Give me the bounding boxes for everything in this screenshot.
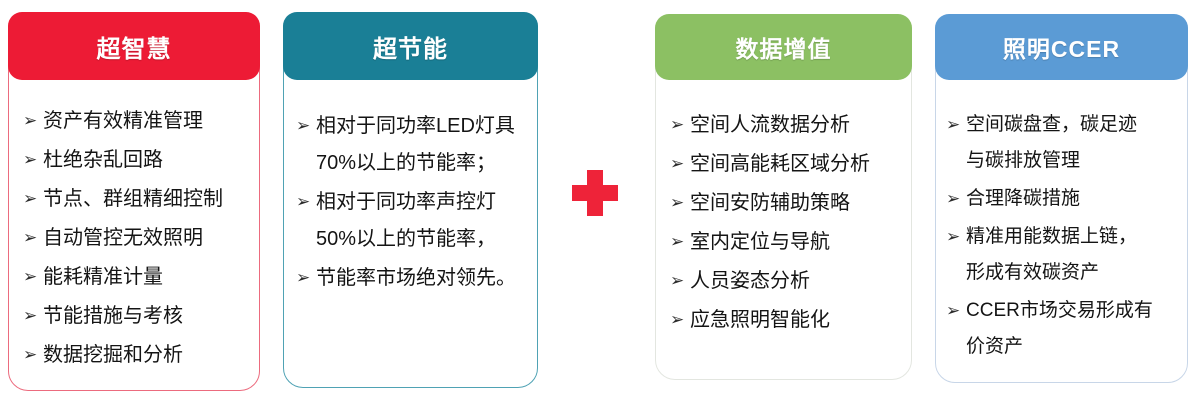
card-title: 超节能 bbox=[373, 29, 448, 64]
list-item-label: CCER市场交易形成有 价资产 bbox=[966, 293, 1183, 365]
list-item: ➢ 人员姿态分析 bbox=[670, 263, 905, 300]
list-item-label: 节能率市场绝对领先。 bbox=[316, 260, 529, 297]
card-title: 照明CCER bbox=[1003, 30, 1120, 64]
card-title: 超智慧 bbox=[97, 29, 172, 64]
list-item-label: 节能措施与考核 bbox=[43, 298, 249, 335]
card-header-super-energy-saving: 超节能 bbox=[283, 12, 538, 80]
list-item: ➢ 节能措施与考核 bbox=[23, 298, 249, 335]
list-item: ➢ 相对于同功率声控灯 50%以上的节能率， bbox=[296, 184, 529, 258]
card-body-data-value-add: ➢ 空间人流数据分析 ➢ 空间高能耗区域分析 ➢ 空间安防辅助策略 ➢ 室内定位… bbox=[656, 107, 911, 341]
arrow-bullet-icon: ➢ bbox=[670, 107, 690, 144]
list-item-label: 人员姿态分析 bbox=[690, 263, 905, 300]
list-item: ➢ 合理降碳措施 bbox=[946, 181, 1183, 217]
arrow-bullet-icon: ➢ bbox=[670, 224, 690, 261]
list-item-label: 空间安防辅助策略 bbox=[690, 185, 905, 222]
card-header-super-smart: 超智慧 bbox=[8, 12, 260, 80]
list-item: ➢ CCER市场交易形成有 价资产 bbox=[946, 293, 1183, 365]
arrow-bullet-icon: ➢ bbox=[23, 181, 43, 218]
list-item: ➢ 自动管控无效照明 bbox=[23, 220, 249, 257]
list-item: ➢ 杜绝杂乱回路 bbox=[23, 142, 249, 179]
card-super-smart[interactable]: 超智慧 ➢ 资产有效精准管理 ➢ 杜绝杂乱回路 ➢ 节点、群组精细控制 ➢ 自动 bbox=[8, 12, 260, 391]
list-item: ➢ 空间碳盘查，碳足迹 与碳排放管理 bbox=[946, 107, 1183, 179]
arrow-bullet-icon: ➢ bbox=[946, 181, 966, 217]
arrow-bullet-icon: ➢ bbox=[946, 293, 966, 329]
card-header-data-value-add: 数据增值 bbox=[655, 14, 912, 80]
card-data-value-add[interactable]: 数据增值 ➢ 空间人流数据分析 ➢ 空间高能耗区域分析 ➢ 空间安防辅助策略 ➢ bbox=[655, 14, 912, 380]
arrow-bullet-icon: ➢ bbox=[296, 108, 316, 145]
list-item: ➢ 空间高能耗区域分析 bbox=[670, 146, 905, 183]
card-body-super-energy-saving: ➢ 相对于同功率LED灯具 70%以上的节能率； ➢ 相对于同功率声控灯 50%… bbox=[284, 108, 537, 299]
list-item-label: 数据挖掘和分析 bbox=[43, 337, 249, 374]
feature-list-super-smart: ➢ 资产有效精准管理 ➢ 杜绝杂乱回路 ➢ 节点、群组精细控制 ➢ 自动管控无效… bbox=[23, 103, 249, 374]
arrow-bullet-icon: ➢ bbox=[296, 260, 316, 297]
list-item-label: 精准用能数据上链， 形成有效碳资产 bbox=[966, 219, 1183, 291]
list-item: ➢ 数据挖掘和分析 bbox=[23, 337, 249, 374]
list-item: ➢ 节点、群组精细控制 bbox=[23, 181, 249, 218]
infographic-canvas: 超智慧 ➢ 资产有效精准管理 ➢ 杜绝杂乱回路 ➢ 节点、群组精细控制 ➢ 自动 bbox=[0, 0, 1200, 407]
list-item-label: 相对于同功率LED灯具 70%以上的节能率； bbox=[316, 108, 529, 182]
plus-icon-vertical-bar bbox=[587, 170, 603, 216]
list-item-label: 能耗精准计量 bbox=[43, 259, 249, 296]
list-item-label: 资产有效精准管理 bbox=[43, 103, 249, 140]
list-item: ➢ 资产有效精准管理 bbox=[23, 103, 249, 140]
list-item: ➢ 相对于同功率LED灯具 70%以上的节能率； bbox=[296, 108, 529, 182]
arrow-bullet-icon: ➢ bbox=[23, 298, 43, 335]
arrow-bullet-icon: ➢ bbox=[670, 263, 690, 300]
list-item-label: 空间碳盘查，碳足迹 与碳排放管理 bbox=[966, 107, 1183, 179]
arrow-bullet-icon: ➢ bbox=[946, 107, 966, 143]
card-body-lighting-ccer: ➢ 空间碳盘查，碳足迹 与碳排放管理 ➢ 合理降碳措施 ➢ 精准用能数据上链， … bbox=[936, 107, 1187, 367]
list-item: ➢ 室内定位与导航 bbox=[670, 224, 905, 261]
list-item-label: 自动管控无效照明 bbox=[43, 220, 249, 257]
card-lighting-ccer[interactable]: 照明CCER ➢ 空间碳盘查，碳足迹 与碳排放管理 ➢ 合理降碳措施 ➢ 精准用… bbox=[935, 14, 1188, 383]
arrow-bullet-icon: ➢ bbox=[23, 103, 43, 140]
list-item: ➢ 空间人流数据分析 bbox=[670, 107, 905, 144]
arrow-bullet-icon: ➢ bbox=[23, 142, 43, 179]
feature-list-data-value-add: ➢ 空间人流数据分析 ➢ 空间高能耗区域分析 ➢ 空间安防辅助策略 ➢ 室内定位… bbox=[670, 107, 905, 339]
arrow-bullet-icon: ➢ bbox=[946, 219, 966, 255]
list-item: ➢ 空间安防辅助策略 bbox=[670, 185, 905, 222]
feature-list-lighting-ccer: ➢ 空间碳盘查，碳足迹 与碳排放管理 ➢ 合理降碳措施 ➢ 精准用能数据上链， … bbox=[946, 107, 1183, 365]
list-item-label: 室内定位与导航 bbox=[690, 224, 905, 261]
list-item-label: 相对于同功率声控灯 50%以上的节能率， bbox=[316, 184, 529, 258]
card-body-super-smart: ➢ 资产有效精准管理 ➢ 杜绝杂乱回路 ➢ 节点、群组精细控制 ➢ 自动管控无效… bbox=[9, 103, 259, 376]
list-item-label: 空间高能耗区域分析 bbox=[690, 146, 905, 183]
arrow-bullet-icon: ➢ bbox=[296, 184, 316, 221]
arrow-bullet-icon: ➢ bbox=[23, 337, 43, 374]
card-title: 数据增值 bbox=[736, 30, 832, 64]
arrow-bullet-icon: ➢ bbox=[23, 259, 43, 296]
list-item-label: 合理降碳措施 bbox=[966, 181, 1183, 217]
arrow-bullet-icon: ➢ bbox=[670, 146, 690, 183]
list-item-label: 杜绝杂乱回路 bbox=[43, 142, 249, 179]
arrow-bullet-icon: ➢ bbox=[23, 220, 43, 257]
list-item-label: 节点、群组精细控制 bbox=[43, 181, 249, 218]
list-item: ➢ 节能率市场绝对领先。 bbox=[296, 260, 529, 297]
arrow-bullet-icon: ➢ bbox=[670, 185, 690, 222]
list-item-label: 应急照明智能化 bbox=[690, 302, 905, 339]
list-item-label: 空间人流数据分析 bbox=[690, 107, 905, 144]
list-item: ➢ 应急照明智能化 bbox=[670, 302, 905, 339]
list-item: ➢ 精准用能数据上链， 形成有效碳资产 bbox=[946, 219, 1183, 291]
arrow-bullet-icon: ➢ bbox=[670, 302, 690, 339]
feature-list-super-energy-saving: ➢ 相对于同功率LED灯具 70%以上的节能率； ➢ 相对于同功率声控灯 50%… bbox=[296, 108, 529, 297]
card-super-energy-saving[interactable]: 超节能 ➢ 相对于同功率LED灯具 70%以上的节能率； ➢ 相对于同功率声控灯… bbox=[283, 12, 538, 388]
plus-icon bbox=[572, 170, 618, 216]
card-header-lighting-ccer: 照明CCER bbox=[935, 14, 1188, 80]
list-item: ➢ 能耗精准计量 bbox=[23, 259, 249, 296]
